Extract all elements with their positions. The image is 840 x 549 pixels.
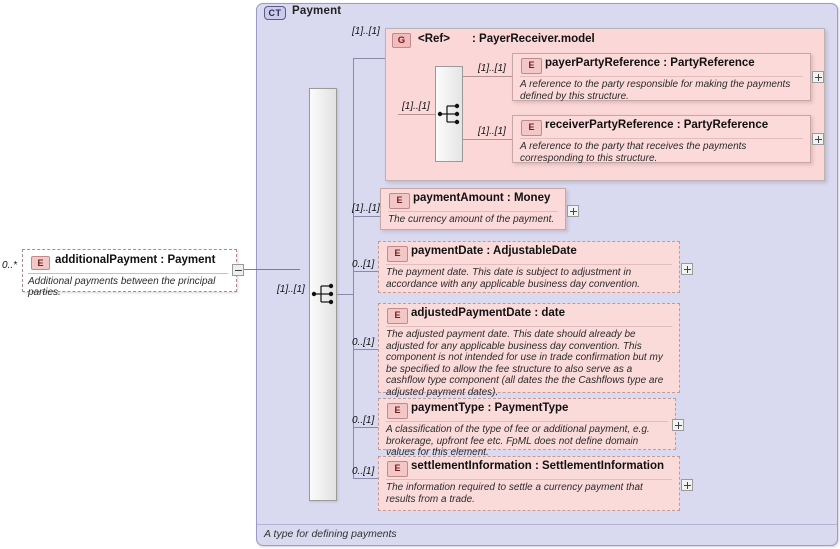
element-badge-icon: E bbox=[31, 256, 50, 270]
element-divider bbox=[388, 211, 558, 212]
element-description: A classification of the type of fee or a… bbox=[386, 424, 667, 459]
element-badge-icon: E bbox=[521, 120, 542, 136]
expand-plus-icon[interactable] bbox=[672, 419, 684, 431]
element-badge-icon: E bbox=[387, 308, 408, 324]
element-divider bbox=[386, 326, 672, 327]
connector-line bbox=[353, 478, 378, 479]
cardinality-payer-party-reference: [1]..[1] bbox=[478, 63, 506, 74]
element-divider bbox=[386, 264, 672, 265]
element-badge-icon: E bbox=[387, 461, 408, 477]
connector-line bbox=[353, 349, 378, 350]
complex-type-footer-text: A type for defining payments bbox=[264, 528, 397, 540]
cardinality-group-ref: [1]..[1] bbox=[352, 26, 380, 37]
element-label: payerPartyReference : PartyReference bbox=[545, 57, 755, 69]
additional-payment-label: additionalPayment : Payment bbox=[55, 254, 215, 266]
group-ref-label: <Ref> bbox=[418, 33, 450, 45]
element-badge-icon: E bbox=[387, 246, 408, 262]
element-divider bbox=[520, 76, 803, 77]
complex-type-badge: CT bbox=[264, 6, 286, 20]
connector-line bbox=[353, 58, 385, 59]
element-divider bbox=[520, 138, 803, 139]
element-box-payer-party-reference[interactable]: E payerPartyReference : PartyReference A… bbox=[512, 53, 811, 101]
cardinality-payment-amount: [1]..[1] bbox=[352, 203, 380, 214]
sequence-icon bbox=[437, 103, 463, 125]
cardinality-payment-date: 0..[1] bbox=[352, 259, 374, 270]
element-description: The information required to settle a cur… bbox=[386, 482, 671, 505]
element-badge-icon: E bbox=[389, 193, 410, 209]
element-box-settlement-information[interactable]: E settlementInformation : SettlementInfo… bbox=[378, 456, 680, 511]
element-divider bbox=[386, 421, 668, 422]
additional-payment-cardinality: 0..* bbox=[2, 260, 17, 271]
connector-line bbox=[353, 271, 378, 272]
group-badge-icon: G bbox=[392, 33, 411, 48]
additional-payment-divider bbox=[28, 273, 228, 274]
cardinality-adjusted-payment-date: 0..[1] bbox=[352, 337, 374, 348]
expand-plus-icon[interactable] bbox=[567, 205, 579, 217]
element-label: receiverPartyReference : PartyReference bbox=[545, 119, 768, 131]
connector-line bbox=[398, 114, 435, 115]
element-label: paymentDate : AdjustableDate bbox=[411, 245, 577, 257]
cardinality-group-sequence: [1]..[1] bbox=[402, 101, 430, 112]
element-label: paymentAmount : Money bbox=[413, 192, 550, 204]
expand-plus-icon[interactable] bbox=[681, 263, 693, 275]
element-description: A reference to the party responsible for… bbox=[520, 79, 802, 102]
connector-line bbox=[353, 427, 378, 428]
expand-plus-icon[interactable] bbox=[681, 479, 693, 491]
cardinality-receiver-party-reference: [1]..[1] bbox=[478, 126, 506, 137]
element-label: settlementInformation : SettlementInform… bbox=[411, 460, 664, 472]
element-box-payment-amount[interactable]: E paymentAmount : Money The currency amo… bbox=[380, 188, 566, 230]
element-description: The currency amount of the payment. bbox=[388, 214, 557, 226]
connector-line bbox=[463, 139, 512, 140]
element-description: A reference to the party that receives t… bbox=[520, 141, 802, 164]
element-divider bbox=[386, 479, 672, 480]
collapse-minus-icon[interactable] bbox=[232, 264, 244, 276]
expand-plus-icon[interactable] bbox=[812, 133, 824, 145]
cardinality-payment-type: 0..[1] bbox=[352, 415, 374, 426]
complex-type-title: Payment bbox=[292, 5, 341, 17]
element-description: The adjusted payment date. This date sho… bbox=[386, 329, 671, 398]
sequence-cardinality: [1]..[1] bbox=[277, 284, 305, 295]
element-label: paymentType : PaymentType bbox=[411, 402, 568, 414]
connector-line bbox=[463, 76, 512, 77]
element-badge-icon: E bbox=[387, 403, 408, 419]
group-ref-type: : PayerReceiver.model bbox=[472, 33, 595, 45]
connector-line bbox=[244, 269, 300, 270]
expand-plus-icon[interactable] bbox=[812, 71, 824, 83]
element-box-payment-date[interactable]: E paymentDate : AdjustableDate The payme… bbox=[378, 241, 680, 293]
element-description: The payment date. This date is subject t… bbox=[386, 267, 671, 290]
cardinality-settlement-information: 0..[1] bbox=[352, 466, 374, 477]
element-box-adjusted-payment-date[interactable]: E adjustedPaymentDate : date The adjuste… bbox=[378, 303, 680, 393]
element-box-payment-type[interactable]: E paymentType : PaymentType A classifica… bbox=[378, 398, 676, 450]
additional-payment-description: Additional payments between the principa… bbox=[28, 276, 232, 298]
complex-type-footer-divider bbox=[257, 524, 837, 525]
element-box-receiver-party-reference[interactable]: E receiverPartyReference : PartyReferenc… bbox=[512, 115, 811, 163]
element-label: adjustedPaymentDate : date bbox=[411, 307, 565, 319]
element-badge-icon: E bbox=[521, 58, 542, 74]
sequence-icon bbox=[311, 283, 337, 305]
connector-line bbox=[337, 294, 354, 295]
connector-line bbox=[353, 216, 380, 217]
